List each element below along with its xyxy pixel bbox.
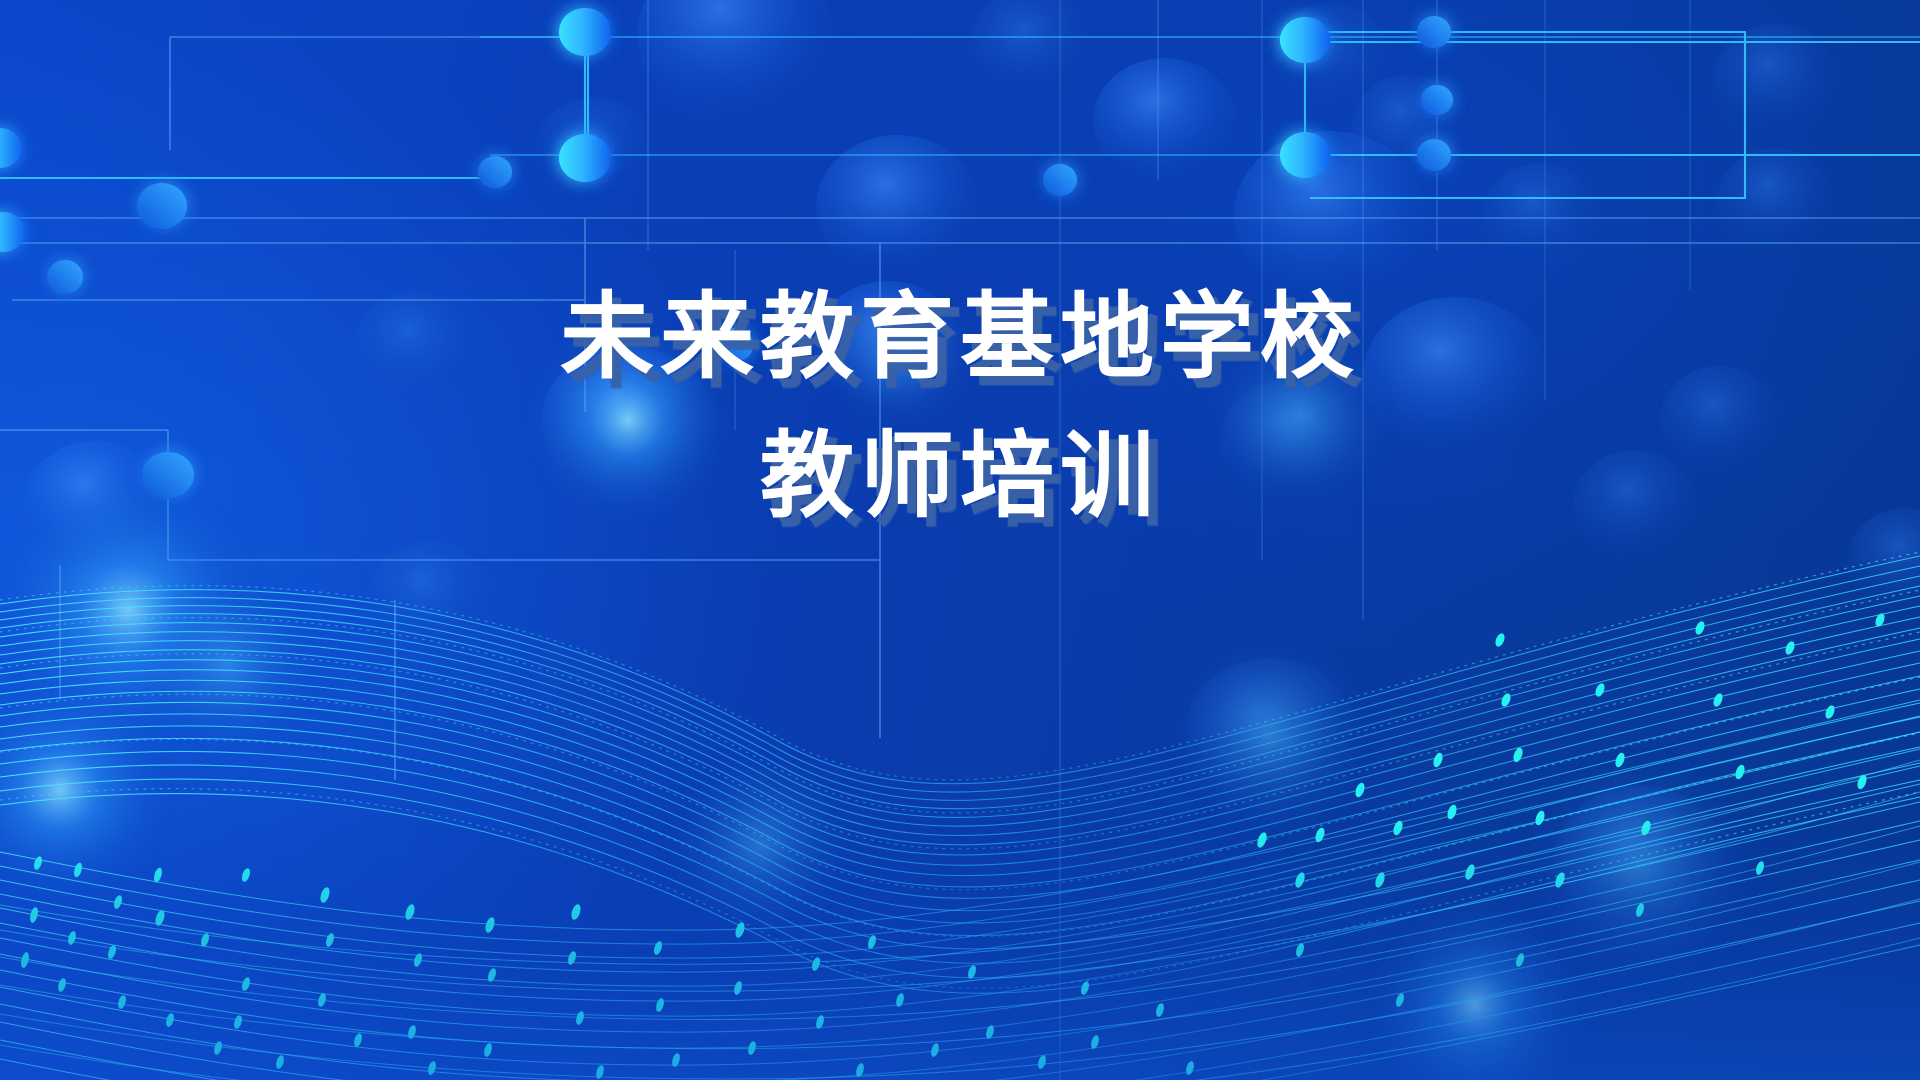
- circuit-node: [559, 8, 611, 56]
- circuit-node: [1417, 139, 1451, 171]
- wave-band-upper: [0, 556, 1920, 993]
- glow-orb-layer: [0, 0, 1920, 1080]
- circuit-pattern-layer: [0, 0, 1920, 1080]
- circuit-node: [0, 212, 25, 252]
- circuit-node: [1280, 132, 1330, 178]
- slide-title: 未来教育基地学校 教师培训: [0, 274, 1920, 538]
- wave-band-lower: [0, 700, 1920, 1080]
- circuit-node: [559, 134, 611, 182]
- circuit-node: [1043, 164, 1077, 196]
- wave-band-dotted: [0, 552, 1920, 988]
- title-line-1: 未来教育基地学校: [0, 274, 1920, 399]
- circuit-node: [1280, 17, 1330, 63]
- circuit-node: [1421, 85, 1453, 115]
- wave-dot-group: [20, 612, 1887, 1080]
- circuit-node: [478, 156, 512, 188]
- circuit-line-group: [0, 0, 1920, 1080]
- circuit-node: [0, 128, 22, 168]
- circuit-line-bright-group: [0, 32, 1920, 198]
- title-line-2: 教师培训: [0, 413, 1920, 538]
- wave-band-diagonal: [0, 760, 1920, 1080]
- circuit-node: [1417, 16, 1451, 48]
- wave-mesh-layer: [0, 0, 1920, 1080]
- circuit-node: [137, 183, 187, 229]
- bokeh-orb-layer: [0, 0, 1920, 1080]
- title-slide: 未来教育基地学校 教师培训: [0, 0, 1920, 1080]
- bottom-reflection: [0, 0, 1920, 1080]
